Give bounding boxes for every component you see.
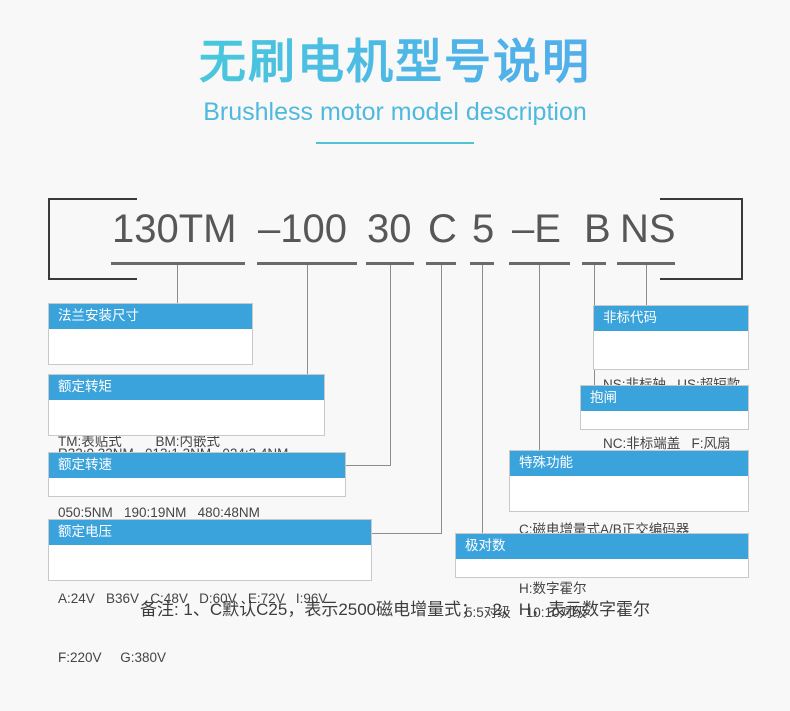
- info-box-nonstandard[interactable]: 非标代码 NS:非标轴 US:超短款 NC:非标端盖 F:风扇: [593, 305, 749, 370]
- connector-drop-torque: [307, 265, 308, 388]
- connector-drop-speed: [390, 265, 391, 465]
- info-box-brake[interactable]: 抱闸 B:抱闸: [580, 385, 749, 430]
- connector-drop-nonstandard: [646, 265, 647, 305]
- info-box-voltage-title: 额定电压: [49, 520, 371, 545]
- info-box-torque[interactable]: 额定转矩 R32:0.32NM 013:1.3NM 024:2.4NM 050:…: [48, 374, 325, 436]
- info-box-speed-title: 额定转速: [49, 453, 345, 478]
- info-box-brake-title: 抱闸: [581, 386, 748, 411]
- model-segment-torque[interactable]: –100: [258, 206, 347, 252]
- footer-note: 备注: 1、C默认C25，表示2500磁电增量式； 2、H，表示数字霍尔: [0, 595, 790, 620]
- model-segment-poles[interactable]: 5: [472, 206, 494, 252]
- model-underline-flange: [111, 262, 245, 265]
- info-box-speed[interactable]: 额定转速 30:3000Rpm 15:1500Rpm 20:2000Rpm: [48, 452, 346, 497]
- info-box-flange-title: 法兰安装尺寸: [49, 304, 252, 329]
- connector-drop-poles: [482, 265, 483, 533]
- connector-drop-flange: [177, 265, 178, 303]
- page-title-cn: 无刷电机型号说明: [0, 36, 790, 88]
- info-box-nonstandard-title: 非标代码: [594, 306, 748, 331]
- info-box-special-title: 特殊功能: [510, 451, 748, 476]
- model-segment-nonstandard[interactable]: NS: [620, 206, 676, 252]
- connector-elbow-speed: [345, 465, 391, 466]
- model-segment-flange[interactable]: 130TM: [112, 206, 237, 252]
- info-line: F:220V G:380V: [58, 648, 371, 668]
- info-box-torque-title: 额定转矩: [49, 375, 324, 400]
- connector-drop-voltage-path: [441, 265, 442, 533]
- poster-canvas: 无刷电机型号说明 Brushless motor model descripti…: [0, 0, 790, 674]
- info-box-poles-title: 极对数: [456, 534, 748, 559]
- info-box-voltage[interactable]: 额定电压 A:24V B36V C:48V D:60V E:72V I:96V …: [48, 519, 372, 581]
- info-box-flange[interactable]: 法兰安装尺寸 40 / 60 / 80 / 110 / 130 / 180 TM…: [48, 303, 253, 365]
- model-segment-brake[interactable]: B: [584, 206, 611, 252]
- model-segment-speed[interactable]: 30: [367, 206, 412, 252]
- model-segment-special[interactable]: C: [428, 206, 457, 252]
- info-box-voltage-body: A:24V B36V C:48V D:60V E:72V I:96V F:220…: [49, 545, 371, 711]
- title-underline-rule: [316, 142, 474, 144]
- info-box-poles[interactable]: 极对数 5:5对级 10:10对级: [455, 533, 749, 578]
- model-segment-voltage[interactable]: –E: [512, 206, 561, 252]
- connector-drop-special: [539, 265, 540, 450]
- model-number-string: 130TM –100 30 C 5 –E B NS: [0, 206, 790, 258]
- page-title-en: Brushless motor model description: [0, 98, 790, 127]
- connector-elbow-voltage: [371, 533, 442, 534]
- info-box-special[interactable]: 特殊功能 C:磁电增量式A/B正交编码器 H:数字霍尔: [509, 450, 749, 512]
